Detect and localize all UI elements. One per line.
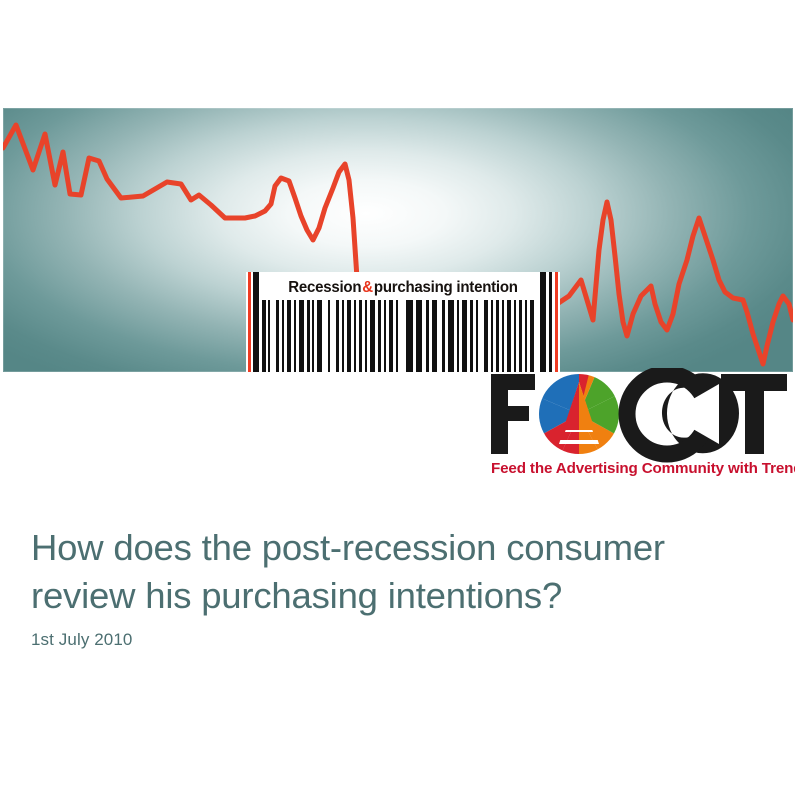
- barcode-guard-left: [248, 272, 251, 372]
- trend-line-right: [557, 202, 793, 364]
- barcode-label: Recession & purchasing intention: [272, 277, 534, 299]
- barcode-guard-right: [555, 272, 558, 372]
- logo-tagline: Feed the Advertising Community with Tren…: [491, 460, 795, 477]
- presentation-date: 1st July 2010: [31, 630, 132, 650]
- barcode-bar: [253, 272, 259, 372]
- logo-letter-a-icon: [538, 372, 620, 456]
- title-slide: Recession & purchasing intention: [0, 0, 800, 800]
- page-title-line-1: How does the post-recession consumer: [31, 524, 761, 572]
- barcode-label-suffix: purchasing intention: [374, 279, 518, 297]
- barcode-label-ampersand: &: [361, 279, 374, 297]
- barcode-label-prefix: Recession: [288, 279, 361, 297]
- page-title: How does the post-recession consumer rev…: [31, 524, 761, 620]
- barcode-bar: [540, 272, 546, 372]
- fact-logo-artwork: Feed the Advertising Community with Tren…: [487, 368, 795, 480]
- barcode-graphic: Recession & purchasing intention: [246, 272, 560, 372]
- barcode-bar: [549, 272, 552, 372]
- barcode-bar-group: [262, 300, 534, 372]
- fact-logo: Feed the Advertising Community with Tren…: [487, 368, 795, 480]
- page-title-line-2: review his purchasing intentions?: [31, 572, 761, 620]
- recession-banner-image: Recession & purchasing intention: [3, 108, 793, 372]
- logo-letter-f-icon: [491, 374, 535, 454]
